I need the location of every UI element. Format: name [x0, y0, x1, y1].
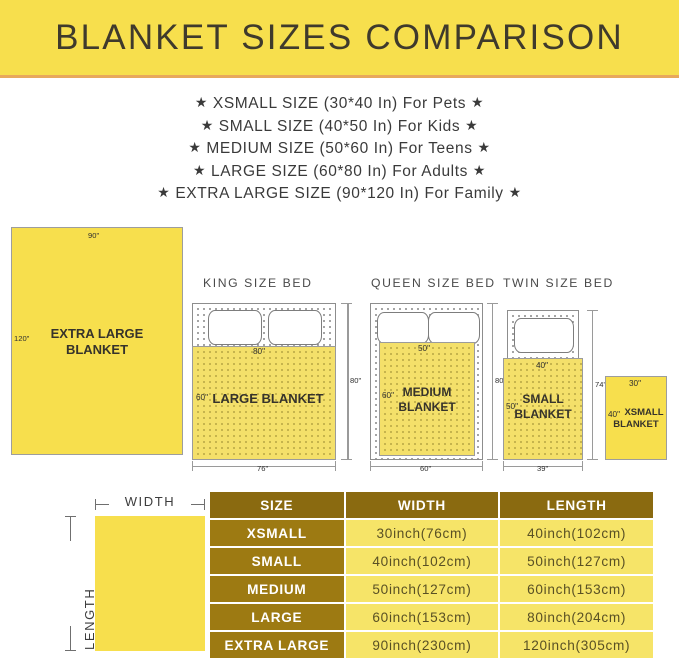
small-blanket-width-dim: 40" — [536, 361, 548, 370]
king-height-tick-bottom — [341, 459, 352, 460]
width-tick-left — [95, 499, 96, 510]
table-header-width: WIDTH — [346, 492, 499, 518]
queen-pillow-left — [377, 312, 429, 344]
length-tick-top — [65, 516, 76, 517]
xsmall-width-dim: 30" — [629, 379, 641, 388]
table-row: MEDIUM 50inch(127cm) 60inch(153cm) — [210, 576, 653, 602]
row-size: XSMALL — [210, 520, 344, 546]
king-width-tick-right — [335, 461, 336, 471]
table-header-row: SIZE WIDTH LENGTH — [210, 492, 653, 518]
bullet-line-medium: ★ MEDIUM SIZE (50*60 In) For Teens ★ — [0, 137, 679, 160]
queen-height-tick-top — [487, 303, 498, 304]
blanket-size-chart-page: BLANKET SIZES COMPARISON ★ XSMALL SIZE (… — [0, 0, 679, 667]
width-length-figure: WIDTH LENGTH — [22, 490, 197, 665]
bullet-text: XSMALL SIZE (30*40 In) For Pets — [213, 95, 466, 112]
xsmall-blanket-label-line1: XSMALL — [616, 407, 672, 419]
length-arrow-bottom — [70, 626, 71, 651]
queen-bed-width-dim: 60" — [420, 464, 431, 473]
table-header-length: LENGTH — [500, 492, 653, 518]
extra-large-width-dim: 90" — [88, 231, 99, 240]
xsmall-blanket-label-line2: BLANKET — [605, 419, 667, 431]
bullet-text: LARGE SIZE (60*80 In) For Adults — [211, 163, 468, 180]
width-length-blanket-rect — [95, 516, 205, 651]
width-arrow-right — [191, 504, 205, 505]
medium-blanket-label-line2: BLANKET — [379, 400, 475, 415]
medium-blanket-label-line1: MEDIUM — [379, 385, 475, 400]
size-bullet-list: ★ XSMALL SIZE (30*40 In) For Pets ★ ★ SM… — [0, 92, 679, 205]
page-title: BLANKET SIZES COMPARISON — [0, 18, 679, 58]
twin-pillow — [514, 318, 574, 353]
row-width: 90inch(230cm) — [346, 632, 499, 658]
row-length: 40inch(102cm) — [500, 520, 653, 546]
row-length: 50inch(127cm) — [500, 548, 653, 574]
row-length: 80inch(204cm) — [500, 604, 653, 630]
queen-width-tick-left — [370, 461, 371, 471]
small-blanket-label-line1: SMALL — [503, 392, 583, 407]
queen-width-tick-right — [482, 461, 483, 471]
row-width: 60inch(153cm) — [346, 604, 499, 630]
queen-pillow-right — [428, 312, 480, 344]
twin-bed-label: TWIN SIZE BED — [503, 276, 614, 290]
queen-height-guide-line — [492, 303, 493, 460]
length-label: LENGTH — [82, 588, 97, 650]
blanket-bed-diagram: 90" 120" EXTRA LARGE BLANKET KING SIZE B… — [0, 215, 679, 480]
table-row: SMALL 40inch(102cm) 50inch(127cm) — [210, 548, 653, 574]
star-icon: ★ — [193, 162, 206, 178]
size-table: SIZE WIDTH LENGTH XSMALL 30inch(76cm) 40… — [208, 490, 655, 660]
star-icon: ★ — [473, 162, 486, 178]
table-row: LARGE 60inch(153cm) 80inch(204cm) — [210, 604, 653, 630]
extra-large-blanket-label-line1: EXTRA LARGE — [11, 326, 183, 342]
bullet-text: EXTRA LARGE SIZE (90*120 In) For Family — [175, 185, 503, 202]
star-icon: ★ — [471, 94, 484, 110]
extra-large-blanket-label-line2: BLANKET — [11, 342, 183, 358]
star-icon: ★ — [157, 184, 170, 200]
row-length: 120inch(305cm) — [500, 632, 653, 658]
star-icon: ★ — [465, 117, 478, 133]
bullet-line-large: ★ LARGE SIZE (60*80 In) For Adults ★ — [0, 160, 679, 183]
queen-height-tick-bottom — [487, 459, 498, 460]
large-blanket-label: LARGE BLANKET — [200, 391, 336, 407]
king-bed-height-dim: 80" — [350, 376, 361, 385]
width-label: WIDTH — [94, 494, 206, 509]
row-width: 40inch(102cm) — [346, 548, 499, 574]
twin-bed-width-dim: 39" — [537, 464, 548, 473]
row-length: 60inch(153cm) — [500, 576, 653, 602]
king-bed-width-dim: 76" — [257, 464, 268, 473]
twin-width-tick-right — [582, 461, 583, 471]
star-icon: ★ — [509, 184, 522, 200]
row-width: 30inch(76cm) — [346, 520, 499, 546]
star-icon: ★ — [188, 139, 201, 155]
width-arrow-left — [95, 504, 109, 505]
table-header-size: SIZE — [210, 492, 344, 518]
king-width-tick-left — [192, 461, 193, 471]
star-icon: ★ — [477, 139, 490, 155]
length-tick-bottom — [65, 650, 76, 651]
row-size: SMALL — [210, 548, 344, 574]
width-tick-right — [204, 499, 205, 510]
length-arrow-top — [70, 516, 71, 541]
twin-height-guide-line — [592, 310, 593, 460]
bullet-line-xsmall: ★ XSMALL SIZE (30*40 In) For Pets ★ — [0, 92, 679, 115]
twin-height-tick-bottom — [587, 459, 598, 460]
bullet-line-small: ★ SMALL SIZE (40*50 In) For Kids ★ — [0, 115, 679, 138]
twin-width-tick-left — [503, 461, 504, 471]
king-pillow-left — [208, 310, 262, 345]
star-icon: ★ — [201, 117, 214, 133]
king-bed-label: KING SIZE BED — [203, 276, 313, 290]
king-pillow-right — [268, 310, 322, 345]
row-size: LARGE — [210, 604, 344, 630]
medium-blanket-width-dim: 50" — [418, 344, 430, 353]
table-row: XSMALL 30inch(76cm) 40inch(102cm) — [210, 520, 653, 546]
bullet-text: MEDIUM SIZE (50*60 In) For Teens — [206, 140, 472, 157]
row-width: 50inch(127cm) — [346, 576, 499, 602]
queen-bed-label: QUEEN SIZE BED — [371, 276, 496, 290]
header-divider-rule — [0, 75, 679, 78]
queen-height-guide-line-left — [348, 303, 349, 460]
row-size: EXTRA LARGE — [210, 632, 344, 658]
small-blanket-label-line2: BLANKET — [503, 407, 583, 422]
star-icon: ★ — [195, 94, 208, 110]
bullet-text: SMALL SIZE (40*50 In) For Kids — [219, 118, 460, 135]
large-blanket-width-dim: 80" — [253, 347, 265, 356]
table-row: EXTRA LARGE 90inch(230cm) 120inch(305cm) — [210, 632, 653, 658]
row-size: MEDIUM — [210, 576, 344, 602]
twin-height-tick-top — [587, 310, 598, 311]
king-height-tick-top — [341, 303, 352, 304]
bullet-line-extra-large: ★ EXTRA LARGE SIZE (90*120 In) For Famil… — [0, 182, 679, 205]
